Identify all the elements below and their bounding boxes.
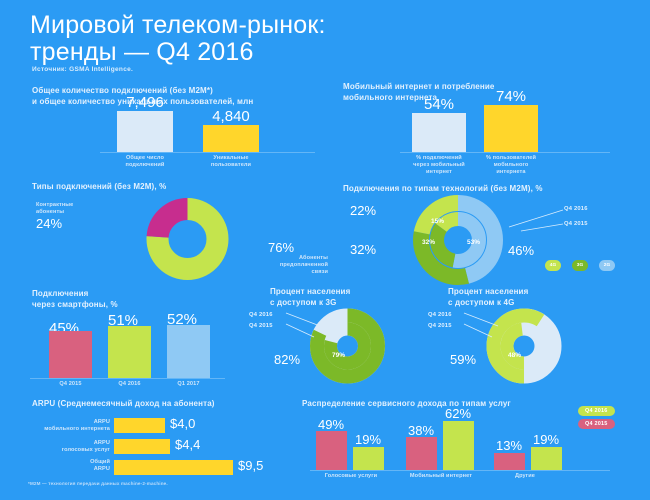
technology-inner-3g-pct: 32% <box>422 239 435 246</box>
connection-types-donut-svg <box>125 198 250 280</box>
technology-section-title: Подключения по типам технологий (без M2M… <box>343 184 643 195</box>
revenue-value-internet-2015: 38% <box>395 423 447 438</box>
mobile-internet-bar-1 <box>484 105 538 152</box>
revenue-value-internet-2016: 62% <box>432 406 484 421</box>
arpu-row-2-line1: Общий <box>90 459 110 465</box>
mobile-internet-bar-value-1: 74% <box>477 88 545 105</box>
connection-types-contract-pct: 24% <box>36 216 62 231</box>
pop-3g-inner-pct: 79% <box>332 352 345 359</box>
smartphones-bar-label-1: Q4 2016 <box>98 381 161 388</box>
prepaid-label-line1: Абоненты <box>299 255 328 261</box>
mobile-internet-title-line1: Мобильный интернет и потребление <box>343 82 495 91</box>
connection-types-prepaid-label: Абоненты предоплаченной связи <box>250 255 328 276</box>
smartphones-bar-2 <box>167 325 210 378</box>
prepaid-label-line3: связи <box>312 269 328 275</box>
pop-4g-outer-pct: 59% <box>450 352 476 367</box>
technology-year-inner: Q4 2015 <box>564 221 588 227</box>
source-label: Источник: GSMA Intelligence. <box>32 66 133 73</box>
connections-bar-1 <box>203 125 259 152</box>
arpu-row-label-2: Общий ARPU <box>35 459 110 473</box>
arpu-value-0: $4,0 <box>170 416 195 431</box>
revenue-legend-q4-2016[interactable]: Q4 2016 <box>578 406 615 416</box>
contract-label-line2: абоненты <box>36 209 64 215</box>
arpu-section-title: ARPU (Среднемесячный доход на абонента) <box>32 399 282 410</box>
arpu-row-1-line1: ARPU <box>94 440 110 446</box>
revenue-value-voice-2016: 19% <box>342 432 394 447</box>
smartphones-axis <box>30 378 225 379</box>
connection-types-section-title: Типы подключений (без M2M), % <box>32 182 332 193</box>
arpu-value-1: $4,4 <box>175 437 200 452</box>
technology-legend-2g[interactable]: 2G <box>599 260 615 271</box>
technology-legend-3g[interactable]: 3G <box>572 260 588 271</box>
arpu-value-2: $9,5 <box>238 458 263 473</box>
technology-inner-4g-pct: 15% <box>431 218 444 225</box>
revenue-bar-internet-2016 <box>443 421 474 470</box>
arpu-bar-0 <box>114 418 165 433</box>
pop-4g-year-inner: Q4 2015 <box>428 323 452 329</box>
revenue-bar-internet-2015 <box>406 437 437 470</box>
revenue-category-label-1: Мобильный интернет <box>396 473 486 480</box>
page-title-line1: Мировой телеком-рынок: <box>30 11 326 39</box>
infographic-canvas: Мировой телеком-рынок: тренды — Q4 2016 … <box>0 0 650 500</box>
mobile-internet-bar-label-1: % пользователеймобильногоинтернета <box>475 155 547 176</box>
connection-types-contract-label: Контрактные абоненты <box>36 202 108 216</box>
arpu-bar-2 <box>114 460 233 475</box>
revenue-bar-other-2016 <box>531 447 562 470</box>
revenue-category-label-2: Другие <box>495 473 555 480</box>
pop-3g-outer-pct: 82% <box>274 352 300 367</box>
revenue-legend-q4-2015[interactable]: Q4 2015 <box>578 419 615 429</box>
pop-4g-inner-pct: 48% <box>508 352 521 359</box>
pop-3g-title-line2: с доступом к 3G <box>270 298 336 307</box>
connection-types-donut <box>125 198 250 285</box>
revenue-value-other-2016: 19% <box>520 432 572 447</box>
smartphones-title-line1: Подключения <box>32 289 88 298</box>
technology-leader-lines <box>495 205 567 240</box>
technology-legend-4g[interactable]: 4G <box>545 260 561 271</box>
technology-inner-2g-pct: 53% <box>467 239 480 246</box>
footnote: *M2M — технология передачи данных machin… <box>28 481 168 486</box>
smartphones-bar-0 <box>49 331 92 378</box>
connections-bar-0 <box>117 111 173 152</box>
pop-4g-year-outer: Q4 2016 <box>428 312 452 318</box>
smartphones-bar-1 <box>108 326 151 378</box>
mobile-internet-bar-0 <box>412 113 466 152</box>
pop-3g-title-line1: Процент населения <box>270 287 350 296</box>
connections-axis <box>100 152 315 153</box>
arpu-row-2-line2: ARPU <box>94 466 110 472</box>
pop-4g-title-line2: с доступом к 4G <box>448 298 514 307</box>
technology-outer-2g-pct: 46% <box>508 243 534 258</box>
arpu-row-0-line2: мобильного интернета <box>44 426 110 432</box>
pop-3g-section-title: Процент населения с доступом к 3G <box>270 287 410 308</box>
prepaid-label-line2: предоплаченной <box>280 262 328 268</box>
arpu-bar-1 <box>114 439 170 454</box>
pop-3g-year-inner: Q4 2015 <box>249 323 273 329</box>
arpu-row-1-line2: голосовых услуг <box>62 447 110 453</box>
smartphones-section-title: Подключения через смартфоны, % <box>32 289 182 310</box>
contract-label-line1: Контрактные <box>36 202 73 208</box>
connections-bar-label-0: Общее числоподключений <box>110 155 180 169</box>
smartphones-bar-label-2: Q1 2017 <box>157 381 220 388</box>
mobile-internet-axis <box>400 152 610 153</box>
revenue-value-voice-2015: 49% <box>305 417 357 432</box>
arpu-row-label-0: ARPU мобильного интернета <box>35 419 110 433</box>
pop-3g-year-outer: Q4 2016 <box>249 312 273 318</box>
connections-section-title: Общее количество подключений (без M2M*) … <box>32 86 332 107</box>
technology-year-outer: Q4 2016 <box>564 206 588 212</box>
arpu-row-label-1: ARPU голосовых услуг <box>35 440 110 454</box>
technology-outer-3g-pct: 32% <box>350 242 376 257</box>
connections-bar-value-1: 4,840 <box>194 108 268 125</box>
revenue-bar-voice-2016 <box>353 447 384 470</box>
pop-4g-section-title: Процент населения с доступом к 4G <box>448 287 588 308</box>
pop-3g-leader-lines <box>284 310 328 342</box>
revenue-bar-other-2015 <box>494 453 525 470</box>
revenue-category-label-0: Голосовые услуги <box>310 473 392 480</box>
arpu-row-0-line1: ARPU <box>94 419 110 425</box>
smartphones-bar-label-0: Q4 2015 <box>39 381 102 388</box>
page-title-line2: тренды — Q4 2016 <box>30 39 450 66</box>
mobile-internet-bar-label-0: % подключенийчерез мобильныйинтернет <box>403 155 475 176</box>
revenue-axis <box>310 470 610 471</box>
pop-4g-leader-lines <box>462 310 506 342</box>
connection-types-prepaid-pct: 76% <box>268 240 294 255</box>
mobile-internet-bar-value-0: 54% <box>405 96 473 113</box>
connections-bar-label-1: Уникальныепользователи <box>196 155 266 169</box>
smartphones-title-line2: через смартфоны, % <box>32 300 118 309</box>
page-title: Мировой телеком-рынок: тренды — Q4 2016 <box>30 12 450 66</box>
connections-bar-value-0: 7,496 <box>108 94 182 111</box>
technology-outer-4g-pct: 22% <box>350 203 376 218</box>
pop-4g-title-line1: Процент населения <box>448 287 528 296</box>
